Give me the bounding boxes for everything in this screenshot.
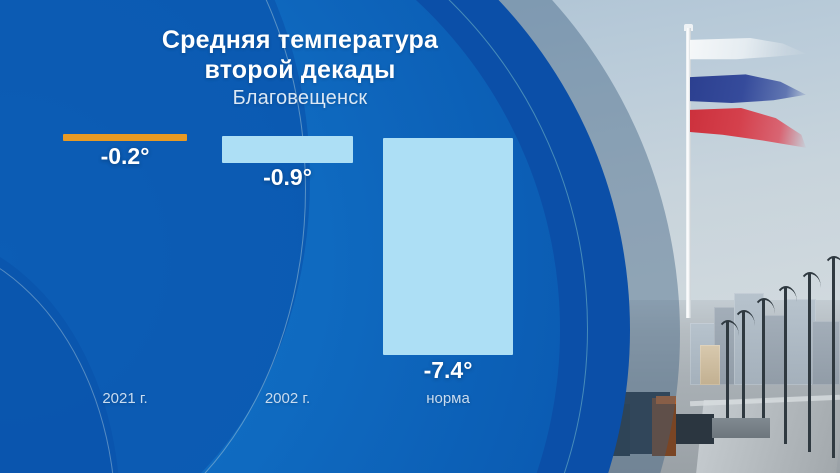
bar-category-2002: 2002 г. bbox=[222, 390, 353, 407]
bar-category-2021: 2021 г. bbox=[63, 390, 187, 407]
bar-value-2002: -0.9° bbox=[222, 164, 353, 191]
bar-2021 bbox=[63, 134, 187, 141]
bar-value-2021: -0.2° bbox=[63, 143, 187, 170]
broadcast-weather-graphic: Средняя температура второй декады Благов… bbox=[0, 0, 840, 473]
bar-category-norm: норма bbox=[383, 390, 513, 407]
graphic-content: Средняя температура второй декады Благов… bbox=[0, 0, 840, 473]
bar-norm bbox=[383, 138, 513, 355]
bar-2002 bbox=[222, 136, 353, 163]
bar-value-norm: -7.4° bbox=[383, 357, 513, 384]
bar-chart: -0.2° 2021 г. -0.9° 2002 г. -7.4° норма bbox=[0, 0, 560, 473]
